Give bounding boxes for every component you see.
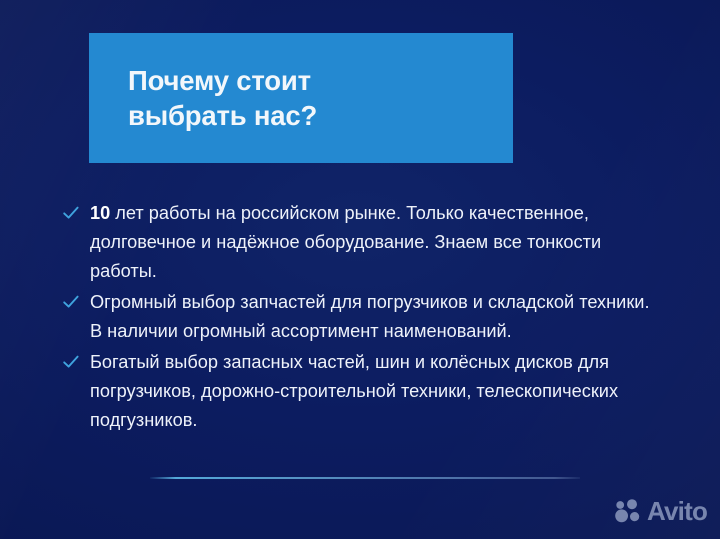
list-item: Богатый выбор запасных частей, шин и кол… [62,348,662,435]
avito-watermark: Avito [614,498,707,524]
list-item-text: Огромный выбор запчастей для погрузчиков… [90,292,650,341]
check-icon [62,293,80,311]
check-icon [62,353,80,371]
list-item-text: Богатый выбор запасных частей, шин и кол… [90,352,618,430]
divider [150,477,580,479]
avito-dots-icon [614,499,642,523]
list-item-text: лет работы на российском рынке. Только к… [90,203,601,281]
slide-canvas: Почему стоит выбрать нас? 10 лет работы … [0,0,720,539]
check-icon [62,204,80,222]
page-title: Почему стоит выбрать нас? [128,63,317,133]
list-item-lead: 10 [90,203,110,223]
benefits-list: 10 лет работы на российском рынке. Тольк… [62,199,662,437]
avito-wordmark: Avito [647,498,707,524]
heading-panel: Почему стоит выбрать нас? [89,33,513,163]
list-item: Огромный выбор запчастей для погрузчиков… [62,288,662,346]
list-item: 10 лет работы на российском рынке. Тольк… [62,199,662,286]
